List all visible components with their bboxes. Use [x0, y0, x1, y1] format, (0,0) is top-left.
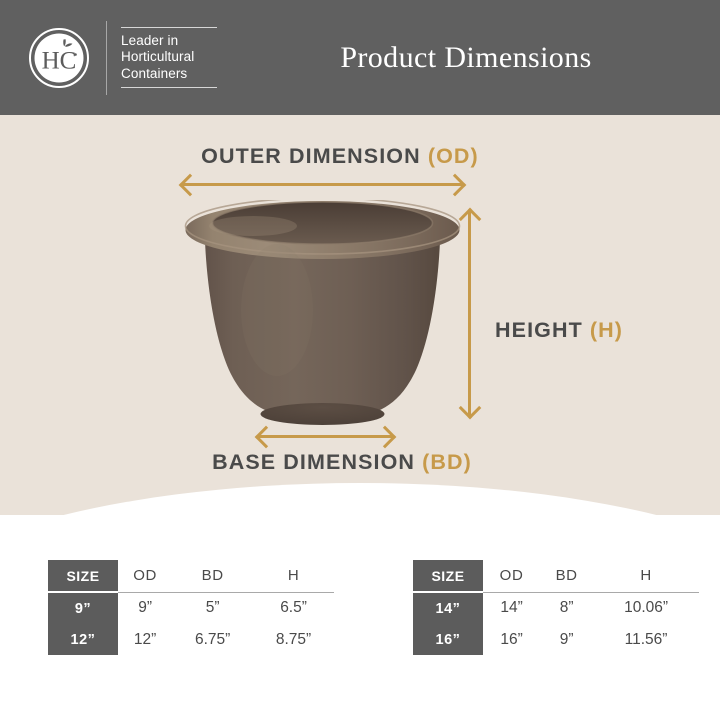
spec-tables-area: SIZE OD BD H 9” 9” 5” 6.5” 12” 12” 6.75”…: [0, 560, 720, 675]
base-dimension-label: BASE DIMENSION (BD): [0, 450, 720, 475]
cell-bd: 8”: [540, 592, 593, 624]
cell-size: 9”: [48, 592, 118, 624]
cell-od: 14”: [483, 592, 540, 624]
cell-od: 9”: [118, 592, 172, 624]
cell-size: 16”: [413, 624, 483, 655]
tagline-line-2: Horticultural: [121, 49, 217, 66]
outer-dimension-arrow-icon: [183, 183, 462, 186]
height-abbr: (H): [590, 318, 623, 342]
cell-h: 11.56”: [593, 624, 699, 655]
tagline-line-3: Containers: [121, 66, 217, 83]
column-header-bd: BD: [172, 560, 253, 592]
column-header-h: H: [253, 560, 334, 592]
header-bar: HC Leader in Horticultural Containers Pr…: [0, 0, 720, 115]
table-row: 9” 9” 5” 6.5”: [48, 592, 334, 624]
hc-circle-logo-icon: HC: [28, 27, 90, 89]
spec-table-small-sizes: SIZE OD BD H 9” 9” 5” 6.5” 12” 12” 6.75”…: [48, 560, 334, 655]
column-header-size: SIZE: [48, 560, 118, 592]
outer-dimension-text: OUTER DIMENSION: [201, 144, 421, 168]
outer-dimension-label: OUTER DIMENSION (OD): [0, 144, 720, 169]
table-body: 9” 9” 5” 6.5” 12” 12” 6.75” 8.75”: [48, 592, 334, 655]
cell-bd: 9”: [540, 624, 593, 655]
column-header-size: SIZE: [413, 560, 483, 592]
page-title: Product Dimensions: [212, 0, 720, 115]
base-dimension-abbr: (BD): [422, 450, 472, 474]
cell-h: 8.75”: [253, 624, 334, 655]
product-dimensions-infographic: { "header": { "title": "Product Dimensio…: [0, 0, 720, 720]
cell-od: 16”: [483, 624, 540, 655]
column-header-od: OD: [118, 560, 172, 592]
tagline-line-1: Leader in: [121, 33, 217, 50]
table-row: 14” 14” 8” 10.06”: [413, 592, 699, 624]
logo-divider: [106, 21, 107, 95]
table-row: 16” 16” 9” 11.56”: [413, 624, 699, 655]
cell-bd: 6.75”: [172, 624, 253, 655]
diagram-panel: OUTER DIMENSION (OD): [0, 115, 720, 515]
cell-od: 12”: [118, 624, 172, 655]
table-header-row: SIZE OD BD H: [48, 560, 334, 592]
brand-tagline: Leader in Horticultural Containers: [121, 27, 217, 89]
svg-text:HC: HC: [42, 47, 77, 74]
cell-h: 6.5”: [253, 592, 334, 624]
cell-bd: 5”: [172, 592, 253, 624]
cell-size: 12”: [48, 624, 118, 655]
height-text: HEIGHT: [495, 318, 583, 342]
height-label: HEIGHT (H): [495, 318, 623, 343]
brand-logo: HC Leader in Horticultural Containers: [28, 21, 217, 95]
panel-bottom-curve: [0, 483, 720, 515]
column-header-od: OD: [483, 560, 540, 592]
table-header-row: SIZE OD BD H: [413, 560, 699, 592]
table-row: 12” 12” 6.75” 8.75”: [48, 624, 334, 655]
base-dimension-text: BASE DIMENSION: [212, 450, 415, 474]
outer-dimension-abbr: (OD): [428, 144, 479, 168]
column-header-h: H: [593, 560, 699, 592]
table-header: SIZE OD BD H: [48, 560, 334, 592]
height-arrow-icon: [468, 212, 471, 415]
column-header-bd: BD: [540, 560, 593, 592]
base-dimension-arrow-icon: [259, 435, 392, 438]
table-body: 14” 14” 8” 10.06” 16” 16” 9” 11.56”: [413, 592, 699, 655]
table-header: SIZE OD BD H: [413, 560, 699, 592]
planter-pot-illustration: [181, 200, 464, 430]
cell-size: 14”: [413, 592, 483, 624]
spec-table-large-sizes: SIZE OD BD H 14” 14” 8” 10.06” 16” 16” 9…: [413, 560, 699, 655]
cell-h: 10.06”: [593, 592, 699, 624]
